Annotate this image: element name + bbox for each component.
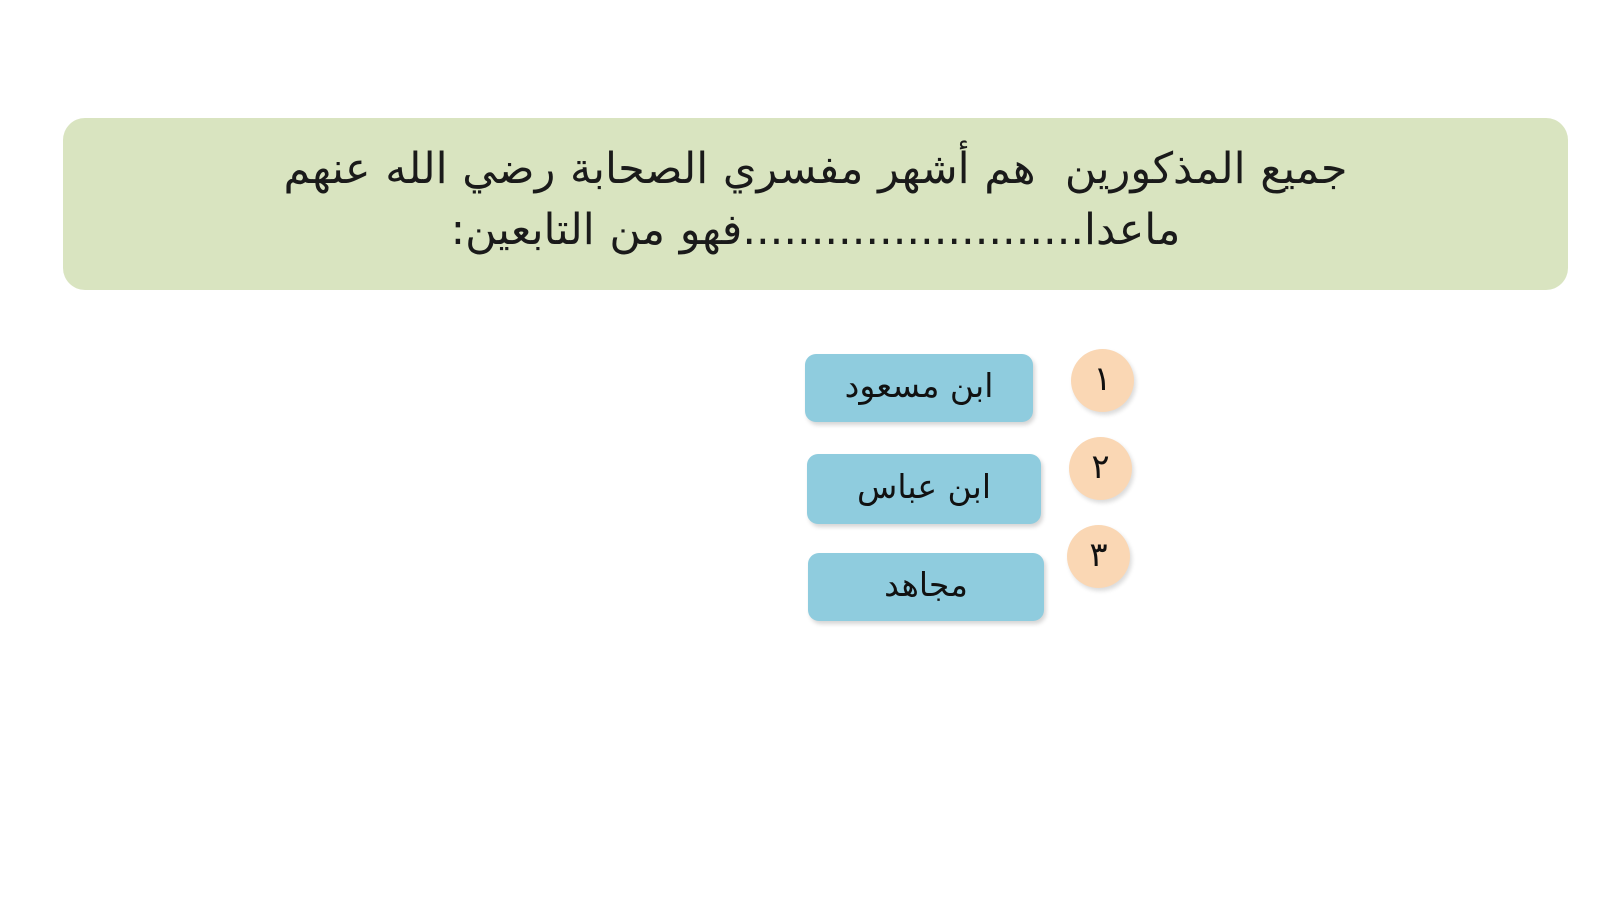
option-badge-3: ٣ bbox=[1067, 525, 1130, 588]
option-number-2: ٢ bbox=[1091, 450, 1109, 484]
question-text: جميع المذكورين هم أشهر مفسري الصحابة رضي… bbox=[97, 139, 1534, 261]
quiz-slide: جميع المذكورين هم أشهر مفسري الصحابة رضي… bbox=[0, 0, 1600, 900]
option-number-1: ١ bbox=[1093, 362, 1111, 396]
option-label-1: ابن مسعود bbox=[845, 369, 994, 402]
option-number-3: ٣ bbox=[1089, 538, 1107, 572]
question-banner: جميع المذكورين هم أشهر مفسري الصحابة رضي… bbox=[63, 118, 1568, 290]
option-box-3[interactable]: مجاهد bbox=[808, 553, 1044, 621]
option-label-2: ابن عباس bbox=[857, 470, 991, 503]
option-label-3: مجاهد bbox=[884, 568, 968, 601]
option-badge-2: ٢ bbox=[1069, 437, 1132, 500]
option-box-1[interactable]: ابن مسعود bbox=[805, 354, 1033, 422]
option-box-2[interactable]: ابن عباس bbox=[807, 454, 1041, 524]
option-badge-1: ١ bbox=[1071, 349, 1134, 412]
answer-options-list: ابن مسعود ١ ابن عباس ٢ مجاهد ٣ bbox=[805, 349, 1145, 624]
